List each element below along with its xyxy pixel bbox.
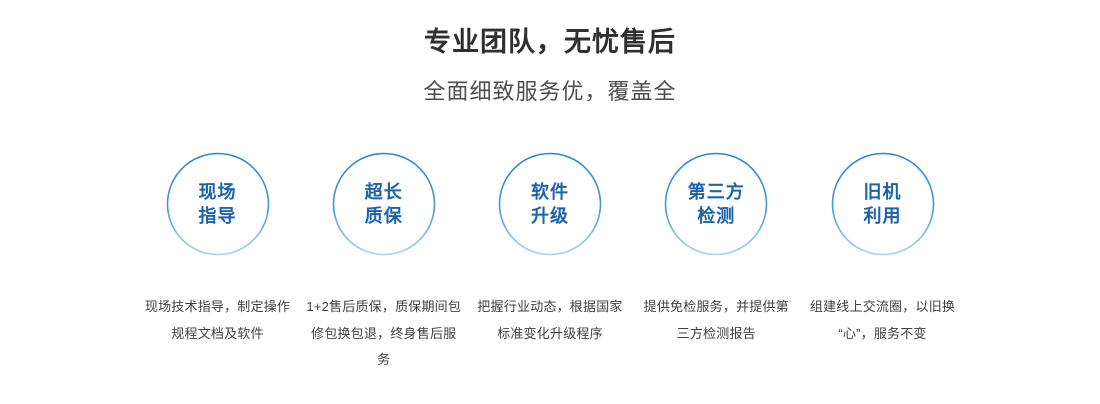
- feature-circle-label: 旧机 利用: [864, 180, 902, 229]
- feature-circle[interactable]: 超长 质保: [332, 152, 436, 256]
- feature-item-software-upgrade[interactable]: 软件 升级 把握行业动态，根据国家标准变化升级程序: [473, 152, 628, 347]
- feature-list: 现场 指导 现场技术指导，制定操作规程文档及软件 超长 质保: [140, 152, 960, 374]
- service-feature-section: 专业团队，无忧售后 全面细致服务优，覆盖全 现场 指导: [0, 0, 1100, 404]
- feature-caption: 提供免检服务，并提供第三方检测报告: [639, 294, 794, 347]
- page-title: 专业团队，无忧售后: [0, 26, 1100, 60]
- feature-circle-label: 超长 质保: [365, 180, 403, 229]
- feature-item-old-machine-reuse[interactable]: 旧机 利用 组建线上交流圈，以旧换“心”，服务不变: [805, 152, 960, 347]
- feature-caption: 把握行业动态，根据国家标准变化升级程序: [473, 294, 628, 347]
- feature-circle[interactable]: 旧机 利用: [831, 152, 935, 256]
- feature-item-third-party-testing[interactable]: 第三方 检测 提供免检服务，并提供第三方检测报告: [639, 152, 794, 347]
- feature-circle-label: 软件 升级: [531, 180, 569, 229]
- feature-item-extended-warranty[interactable]: 超长 质保 1+2售后质保，质保期间包修包换包退，终身售后服务: [306, 152, 461, 374]
- feature-circle-label: 现场 指导: [199, 180, 237, 229]
- feature-circle[interactable]: 软件 升级: [498, 152, 602, 256]
- feature-circle[interactable]: 现场 指导: [166, 152, 270, 256]
- feature-caption: 1+2售后质保，质保期间包修包换包退，终身售后服务: [306, 294, 461, 374]
- feature-circle-label: 第三方 检测: [688, 180, 745, 229]
- heading-block: 专业团队，无忧售后 全面细致服务优，覆盖全: [0, 0, 1100, 105]
- page-subtitle: 全面细致服务优，覆盖全: [0, 78, 1100, 106]
- feature-caption: 现场技术指导，制定操作规程文档及软件: [140, 294, 295, 347]
- feature-caption: 组建线上交流圈，以旧换“心”，服务不变: [805, 294, 960, 347]
- feature-circle[interactable]: 第三方 检测: [664, 152, 768, 256]
- feature-item-onsite-guidance[interactable]: 现场 指导 现场技术指导，制定操作规程文档及软件: [140, 152, 295, 347]
